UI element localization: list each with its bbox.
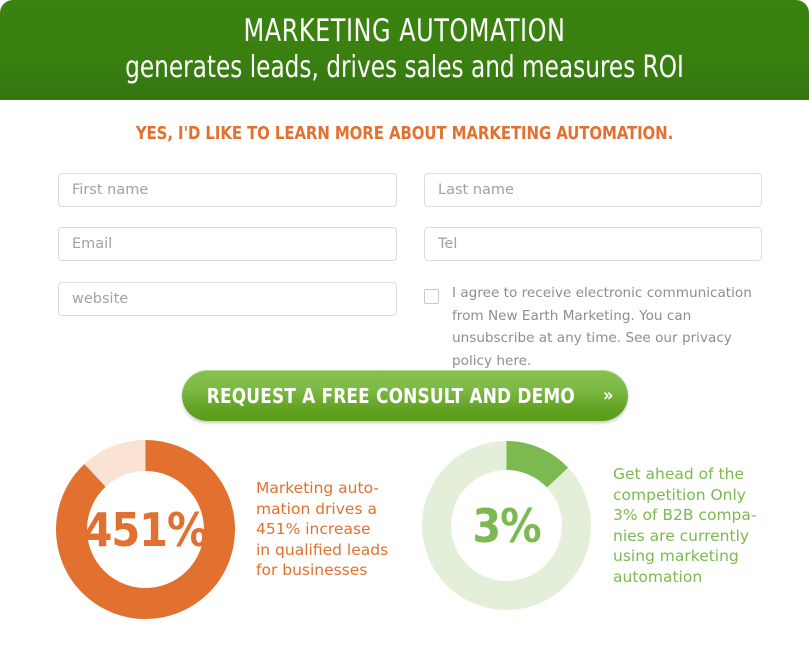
caption-line: for businesses [256, 560, 416, 581]
banner-title: MARKETING AUTOMATION [57, 12, 753, 50]
last-name-input[interactable] [424, 173, 762, 207]
consent-row: I agree to receive electronic communicat… [424, 282, 772, 372]
donut-value-451: 451% [56, 440, 235, 619]
consent-label: I agree to receive electronic communicat… [452, 282, 772, 372]
caption-line: Get ahead of the [613, 464, 793, 485]
donut-chart-451: 451% [56, 440, 235, 619]
donut-value-3: 3% [421, 440, 592, 611]
donut-chart-3: 3% [421, 440, 592, 611]
stat-block-451: 451% Marketing auto- mation drives a 451… [56, 440, 416, 619]
email-input[interactable] [58, 227, 397, 261]
caption-line: competition Only [613, 485, 793, 506]
stats-section: 451% Marketing auto- mation drives a 451… [0, 440, 809, 653]
chevron-right-icon: » [603, 385, 614, 406]
caption-line: 3% of B2B compa- [613, 505, 793, 526]
caption-line: automation [613, 567, 793, 588]
first-name-input[interactable] [58, 173, 397, 207]
request-consult-button[interactable]: REQUEST A FREE CONSULT AND DEMO » [182, 370, 628, 421]
website-input[interactable] [58, 282, 397, 316]
caption-line: 451% increase [256, 519, 416, 540]
page-subheading: YES, I'D LIKE TO LEARN MORE ABOUT MARKET… [20, 124, 789, 144]
stat-caption-3: Get ahead of the competition Only 3% of … [613, 464, 793, 587]
caption-line: using marketing [613, 546, 793, 567]
caption-line: nies are currently [613, 526, 793, 547]
banner-subtitle: generates leads, drives sales and measur… [57, 50, 753, 86]
cta-label: REQUEST A FREE CONSULT AND DEMO [207, 384, 575, 408]
landing-page: MARKETING AUTOMATION generates leads, dr… [0, 0, 809, 653]
header-banner: MARKETING AUTOMATION generates leads, dr… [0, 0, 809, 100]
cta-container: REQUEST A FREE CONSULT AND DEMO » [0, 370, 809, 421]
stat-block-3: 3% Get ahead of the competition Only 3% … [421, 440, 793, 611]
tel-input[interactable] [424, 227, 762, 261]
caption-line: in qualified leads [256, 540, 416, 561]
stat-caption-451: Marketing auto- mation drives a 451% inc… [256, 478, 416, 581]
caption-line: Marketing auto- [256, 478, 416, 499]
lead-form: I agree to receive electronic communicat… [0, 170, 809, 355]
caption-line: mation drives a [256, 499, 416, 520]
consent-checkbox[interactable] [424, 289, 439, 304]
